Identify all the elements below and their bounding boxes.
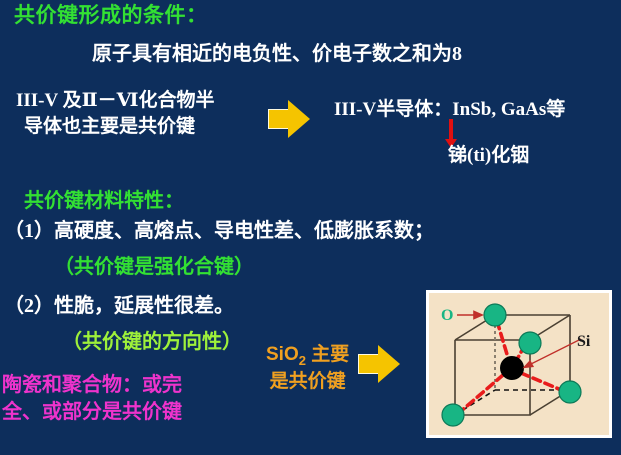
compound-left-block: III-V 及Ⅱ－Ⅵ化合物半 导体也主要是共价键 xyxy=(16,88,215,139)
arrow-head xyxy=(288,100,310,138)
subtitle-text: 原子具有相近的电负性、价电子数之和为8 xyxy=(92,43,462,66)
sio2-label-block: SiO2 主要 是共价键 xyxy=(266,342,349,395)
block-arrow-right-icon-2 xyxy=(358,345,402,383)
sio2-line2: 是共价键 xyxy=(266,369,349,395)
red-down-arrow-icon xyxy=(449,119,453,140)
property-item-1-note: （共价键是强化合键） xyxy=(54,256,254,279)
property-item-2: （2）性脆，延展性很差。 xyxy=(4,295,234,318)
arrow-tail xyxy=(268,109,290,129)
sio2-prefix: SiO xyxy=(266,344,299,365)
arrow-head xyxy=(378,345,400,383)
arrow-tail xyxy=(358,354,380,374)
ceramics-text-block: 陶瓷和聚合物：或完 全、或部分是共价键 xyxy=(2,372,182,426)
compound-left-line2: 导体也主要是共价键 xyxy=(16,114,215,140)
compound-annotation: 锑(ti)化铟 xyxy=(448,145,529,167)
silicon-atom xyxy=(500,356,524,380)
compound-left-line1: III-V 及Ⅱ－Ⅵ化合物半 xyxy=(16,90,215,111)
oxygen-atom-bottom-left xyxy=(442,404,464,426)
oxygen-label: O xyxy=(441,307,453,325)
property-item-2-note: （共价键的方向性） xyxy=(62,331,242,354)
slide-canvas: 共价键形成的条件： 原子具有相近的电负性、价电子数之和为8 III-V 及Ⅱ－Ⅵ… xyxy=(0,0,621,455)
crystal-cube-svg xyxy=(429,293,609,435)
ceramics-line2: 全、或部分是共价键 xyxy=(2,399,182,426)
properties-heading: 共价键材料特性： xyxy=(24,190,184,213)
sio2-crystal-diagram: O Si xyxy=(426,290,612,438)
sio2-suffix: 主要 xyxy=(306,344,349,365)
oxygen-pointer-arrow xyxy=(457,312,482,319)
oxygen-atom-bottom-right xyxy=(559,381,581,403)
compound-right-text: III-V半导体：InSb, GaAs等 xyxy=(334,99,565,121)
sio2-subscript: 2 xyxy=(299,353,306,368)
property-item-1: （1）高硬度、高熔点、导电性差、低膨胀系数； xyxy=(4,220,434,243)
block-arrow-right-icon xyxy=(268,100,312,138)
oxygen-atom-middle xyxy=(519,332,541,354)
silicon-label: Si xyxy=(577,333,590,351)
ceramics-line1: 陶瓷和聚合物：或完 xyxy=(2,374,182,396)
oxygen-atom-top xyxy=(484,304,506,326)
sio2-formula: SiO2 主要 xyxy=(266,344,349,365)
page-title: 共价键形成的条件： xyxy=(14,4,208,28)
